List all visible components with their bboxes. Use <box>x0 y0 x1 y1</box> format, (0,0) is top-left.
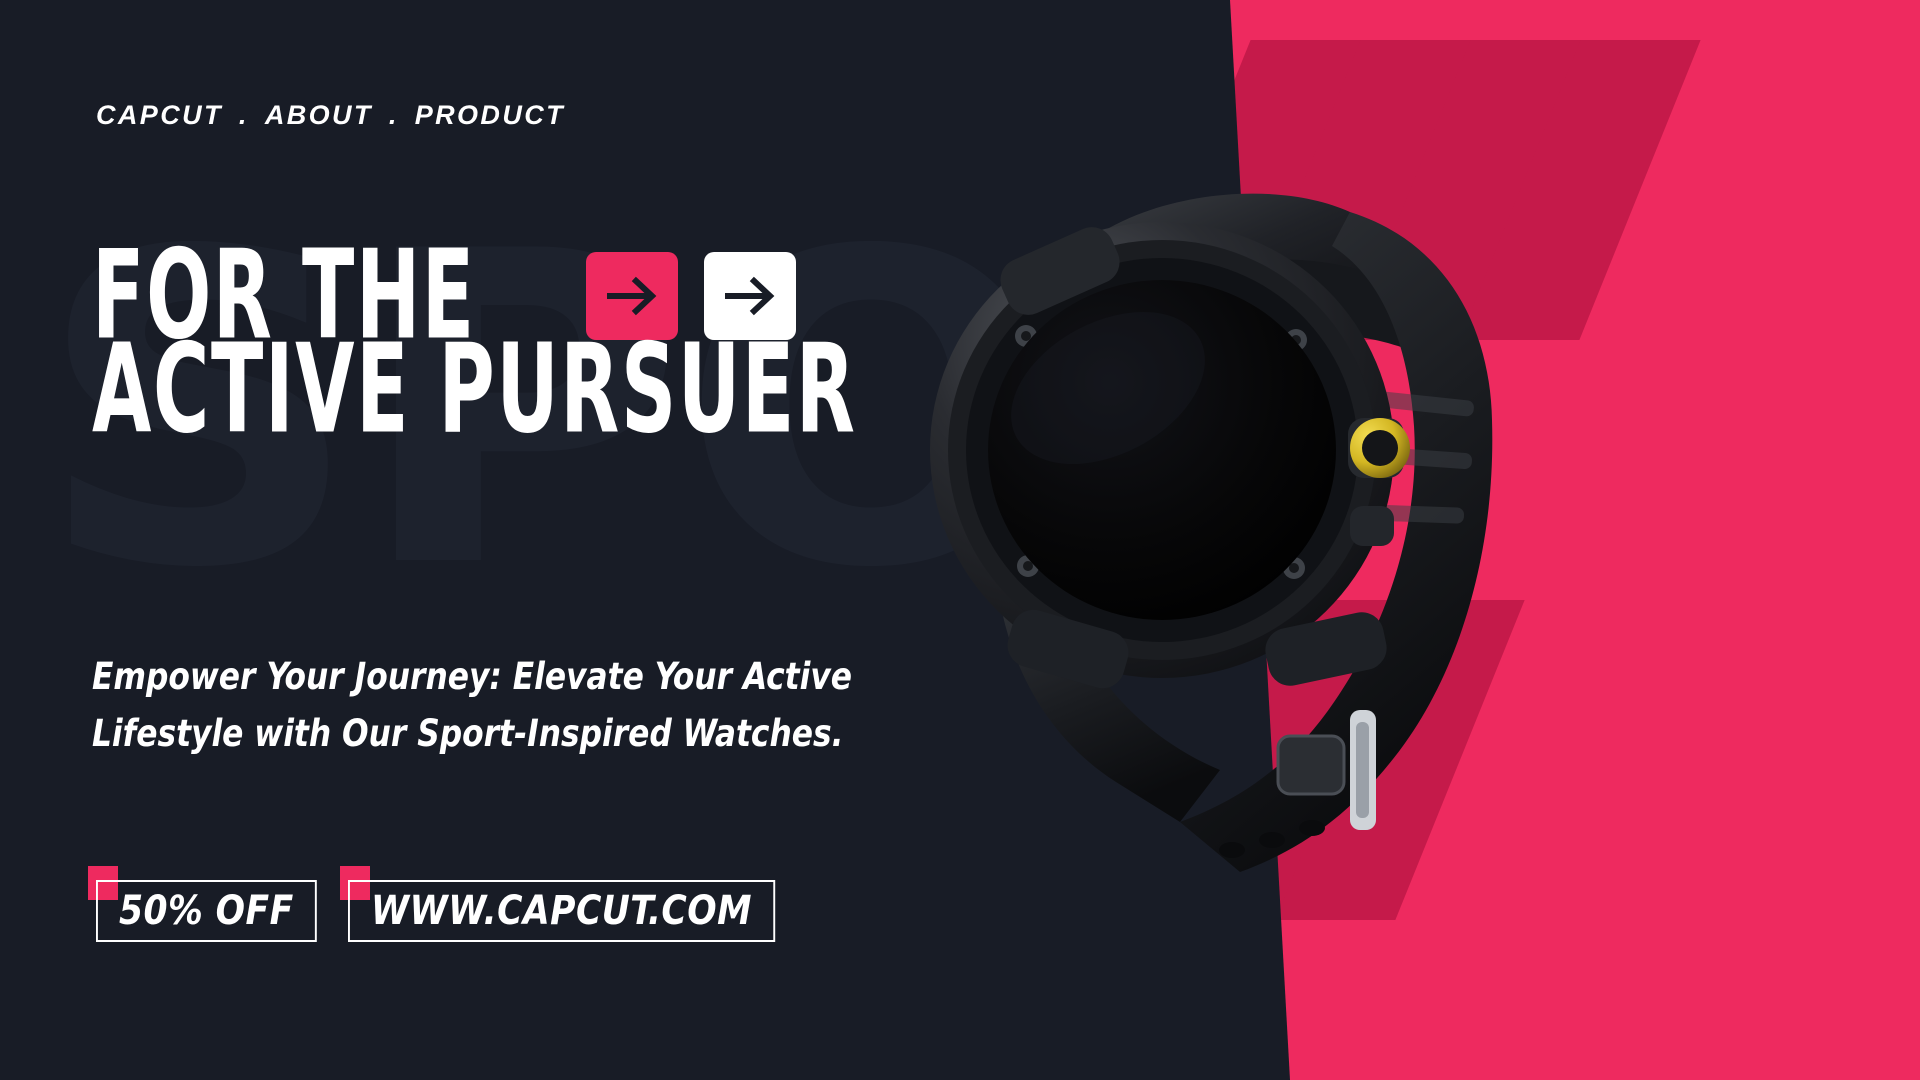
top-navigation: CAPCUT . ABOUT . PRODUCT <box>96 100 565 131</box>
badge-row: 50% OFF WWW.CAPCUT.COM <box>96 880 793 942</box>
discount-badge[interactable]: 50% OFF <box>96 880 326 942</box>
nav-item-capcut[interactable]: CAPCUT <box>96 100 223 131</box>
website-badge[interactable]: WWW.CAPCUT.COM <box>348 880 793 942</box>
subtitle-line-2: Lifestyle with Our Sport-Inspired Watche… <box>92 705 852 762</box>
nav-item-about[interactable]: ABOUT <box>265 100 373 131</box>
headline-block: FOR THE ACTIVE PURSUER <box>92 246 1025 440</box>
subtitle-block: Empower Your Journey: Elevate Your Activ… <box>92 648 852 763</box>
website-badge-label: WWW.CAPCUT.COM <box>348 880 775 942</box>
arrow-right-icon <box>724 274 776 318</box>
arrow-right-icon <box>606 274 658 318</box>
watch-crown <box>1348 418 1410 478</box>
subtitle-line-1: Empower Your Journey: Elevate Your Activ… <box>92 648 852 705</box>
nav-separator-1: . <box>239 100 249 131</box>
discount-badge-label: 50% OFF <box>96 880 317 942</box>
nav-item-product[interactable]: PRODUCT <box>415 100 565 131</box>
headline-line-2: ACTIVE PURSUER <box>92 331 857 449</box>
nav-separator-2: . <box>389 100 399 131</box>
banner-canvas: SPO CAPCUT . ABOUT . PRODUCT FOR THE <box>0 0 1920 1080</box>
